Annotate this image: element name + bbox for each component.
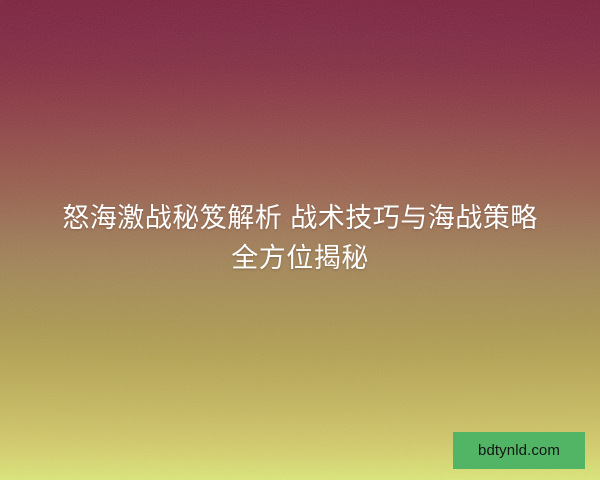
headline-line-1: 怒海激战秘笈解析 战术技巧与海战策略 (28, 198, 572, 238)
watermark-label: bdtynld.com (478, 443, 560, 458)
thumbnail-canvas: 怒海激战秘笈解析 战术技巧与海战策略 全方位揭秘 bdtynld.com (0, 0, 600, 480)
headline-line-2: 全方位揭秘 (28, 238, 572, 278)
headline-block: 怒海激战秘笈解析 战术技巧与海战策略 全方位揭秘 (0, 198, 600, 278)
watermark-badge: bdtynld.com (453, 432, 585, 469)
